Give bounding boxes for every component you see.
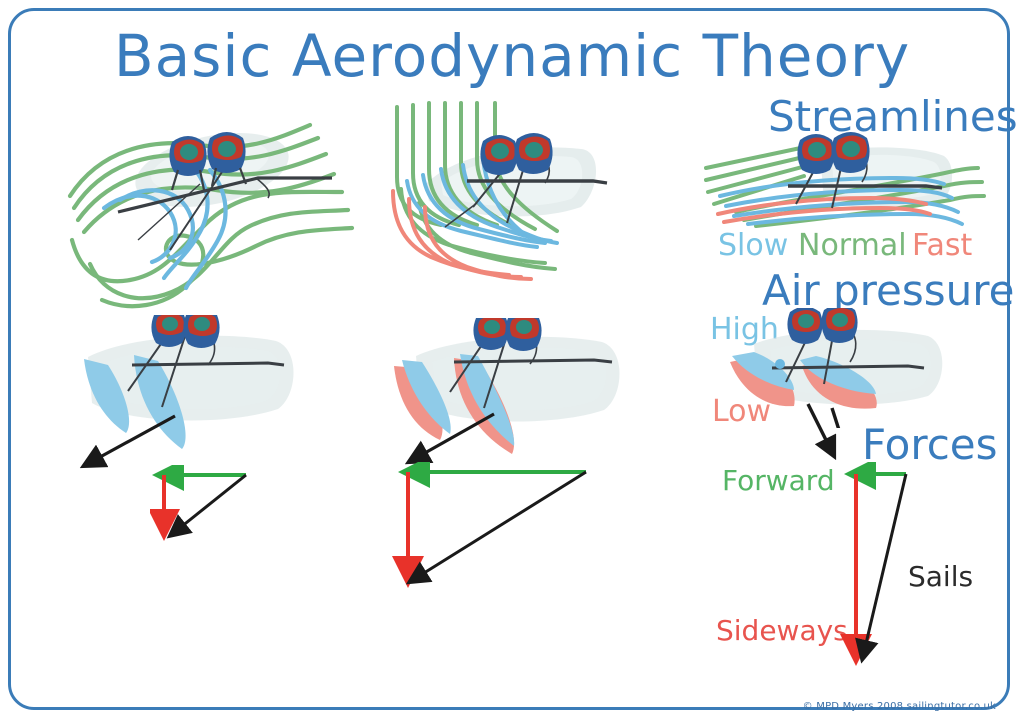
panel-force-triangle-medium bbox=[390, 462, 620, 602]
crew-figure-2 bbox=[505, 318, 541, 351]
legend-forward: Forward bbox=[722, 464, 835, 497]
sails-vector bbox=[864, 474, 906, 652]
copyright-notice: © MPD Myers 2008 sailingtutor.co.uk bbox=[803, 701, 996, 712]
crew-figure-2 bbox=[831, 132, 869, 173]
crew-figure-1 bbox=[480, 135, 517, 175]
attached-flow-svg bbox=[385, 95, 675, 295]
crew-figure-2 bbox=[183, 315, 219, 348]
stalled-flow-svg bbox=[60, 100, 380, 310]
legend-slow: Slow bbox=[718, 228, 788, 263]
page-title: Basic Aerodynamic Theory bbox=[0, 22, 1024, 90]
streamlines-speed-svg bbox=[700, 130, 1000, 235]
crew-figure-1 bbox=[797, 134, 834, 174]
legend-sideways: Sideways bbox=[716, 614, 848, 647]
sails-vector bbox=[416, 472, 586, 578]
crew-figure-1 bbox=[151, 315, 186, 347]
force-triangle-large-svg bbox=[838, 462, 948, 682]
force-triangle-medium-svg bbox=[390, 462, 620, 602]
panel-force-triangle-small bbox=[150, 465, 280, 555]
panel-force-triangle-large bbox=[838, 462, 948, 682]
panel-stalled-flow-streamlines bbox=[60, 100, 380, 310]
crew-figure-1 bbox=[473, 318, 508, 350]
crew-figure-2 bbox=[514, 133, 552, 174]
force-triangle-small-svg bbox=[150, 465, 280, 555]
legend-normal: Normal bbox=[798, 228, 907, 263]
crew-figure-1 bbox=[787, 308, 822, 344]
sails-vector bbox=[176, 475, 246, 531]
crew-figure-2 bbox=[821, 308, 857, 343]
panel-attached-flow-streamlines bbox=[385, 95, 675, 295]
legend-fast: Fast bbox=[912, 228, 972, 263]
poster-root: Basic Aerodynamic Theory bbox=[0, 0, 1024, 724]
panel-streamlines-speed bbox=[700, 130, 1000, 235]
